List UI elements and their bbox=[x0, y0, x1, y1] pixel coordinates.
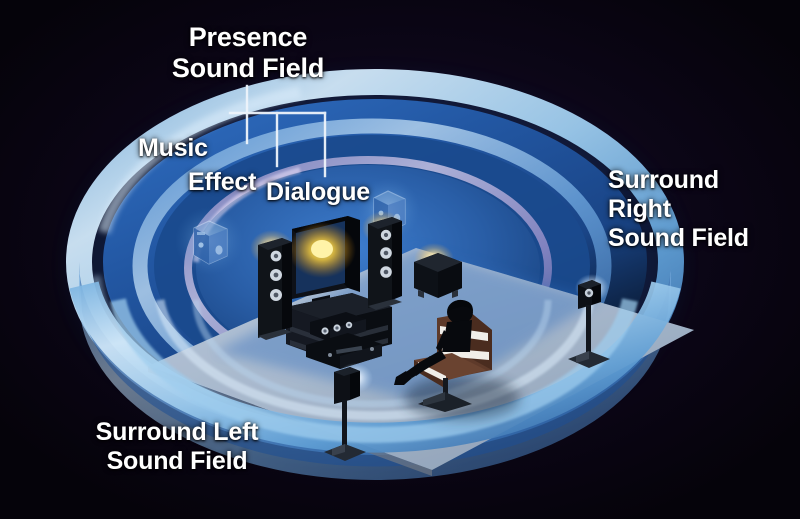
label-music: Music bbox=[138, 134, 208, 163]
label-dialogue: Dialogue bbox=[266, 178, 370, 207]
presence-speaker-left bbox=[175, 207, 243, 275]
label-surround-right-sound-field: Surround Right Sound Field bbox=[608, 166, 749, 253]
label-surround-left-sound-field: Surround Left Sound Field bbox=[58, 418, 296, 476]
front-right-speaker bbox=[362, 211, 404, 310]
sound-field-diagram: Presence Sound Field Music Effect Dialog… bbox=[0, 0, 800, 519]
label-presence-sound-field: Presence Sound Field bbox=[168, 22, 328, 85]
label-effect: Effect bbox=[188, 168, 256, 197]
